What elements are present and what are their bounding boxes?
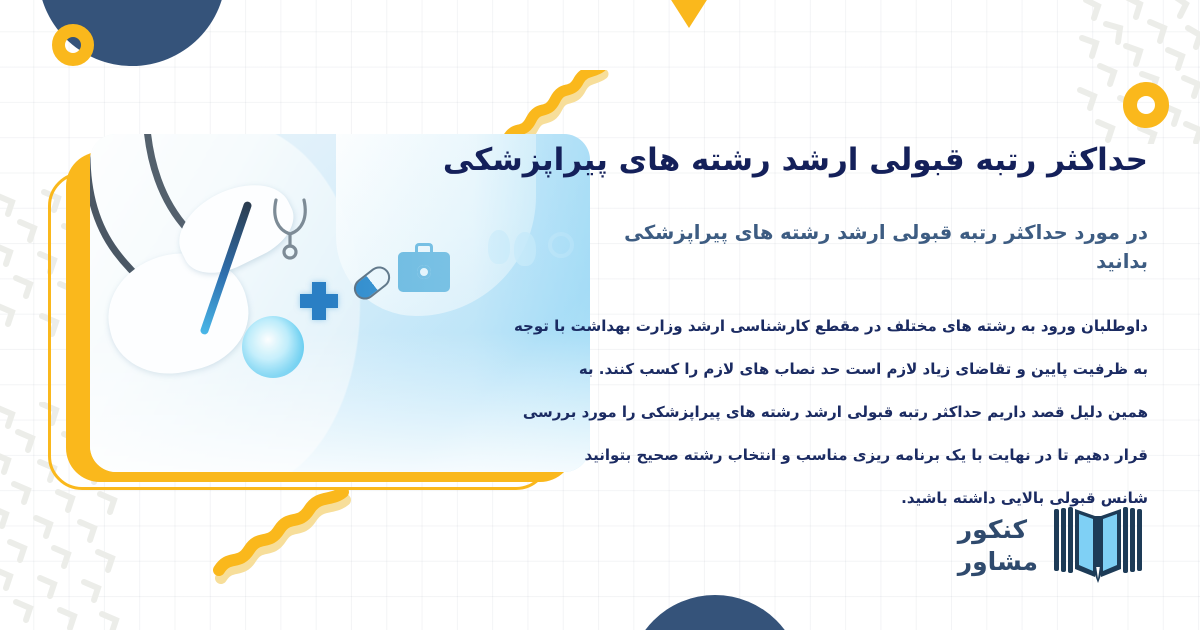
body-line: شانس قبولی بالایی داشته باشید. <box>582 491 1148 506</box>
brand-logo: کنکور مشاور <box>958 505 1144 587</box>
yellow-ring-top-left <box>52 24 94 66</box>
stethoscope-icon <box>268 196 318 262</box>
yellow-squiggle-bottom <box>213 488 363 584</box>
photo-bottom-fade <box>90 332 590 472</box>
text-column: حداکثر رتبه قبولی ارشد رشته های پیراپزشک… <box>582 138 1148 506</box>
banner-canvas: حداکثر رتبه قبولی ارشد رشته های پیراپزشک… <box>0 0 1200 630</box>
page-title: حداکثر رتبه قبولی ارشد رشته های پیراپزشک… <box>582 138 1148 182</box>
open-book-icon <box>1052 505 1144 587</box>
navy-circle-bottom-center <box>628 595 802 630</box>
body-paragraph: داوطلبان ورود به رشته های مختلف در مقطع … <box>582 319 1148 506</box>
body-line: قرار دهیم تا در نهایت با یک برنامه ریزی … <box>582 448 1148 463</box>
body-line: داوطلبان ورود به رشته های مختلف در مقطع … <box>582 319 1148 334</box>
hero-photo <box>90 134 590 472</box>
brand-wordmark: کنکور مشاور <box>958 517 1038 576</box>
body-line: همین دلیل قصد داریم حداکثر رتبه قبولی ار… <box>582 405 1148 420</box>
brand-word-top: کنکور <box>958 517 1027 542</box>
brand-word-bottom: مشاور <box>958 549 1038 574</box>
body-line: به ظرفیت پایین و تقاضای زیاد لازم است حد… <box>582 362 1148 377</box>
yellow-triangle-down-icon <box>666 0 712 28</box>
yellow-ring-top-right <box>1123 82 1169 128</box>
page-subtitle: در مورد حداکثر رتبه قبولی ارشد رشته های … <box>582 218 1148 277</box>
